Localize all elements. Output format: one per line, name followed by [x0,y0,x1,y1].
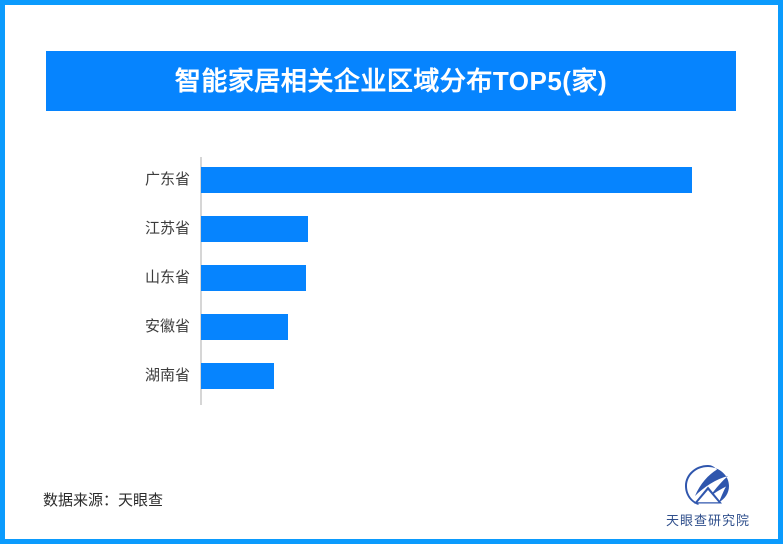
chart-category-label-2: 山东省 [70,265,190,291]
infographic-poster: 智能家居相关企业区域分布TOP5(家) 广东省 江苏省 山东省 [0,0,783,544]
chart-category-label-1: 江苏省 [70,216,190,242]
brand-logo: 天眼查研究院 [653,463,763,535]
chart-row: 江苏省 [5,216,778,265]
data-source-text: 数据来源：天眼查 [43,489,163,510]
chart-bar-1[interactable] [201,216,308,242]
chart-bar-track-0 [201,167,761,193]
chart-bar-3[interactable] [201,314,288,340]
chart-row: 安徽省 [5,314,778,363]
chart-category-label-3: 安徽省 [70,314,190,340]
chart-bar-track-3 [201,314,761,340]
chart-bar-rows: 广东省 江苏省 山东省 安徽省 [5,167,778,412]
chart-row: 山东省 [5,265,778,314]
chart-bar-0[interactable] [201,167,692,193]
chart-category-label-0: 广东省 [70,167,190,193]
bar-chart: 广东省 江苏省 山东省 安徽省 [5,5,778,539]
chart-bar-4[interactable] [201,363,274,389]
chart-category-label-4: 湖南省 [70,363,190,389]
chart-bar-2[interactable] [201,265,306,291]
tianyancha-eagle-eye-icon [683,463,733,507]
chart-row: 广东省 [5,167,778,216]
chart-row: 湖南省 [5,363,778,412]
chart-bar-track-2 [201,265,761,291]
brand-logo-text: 天眼查研究院 [666,510,750,529]
chart-bar-track-1 [201,216,761,242]
chart-bar-track-4 [201,363,761,389]
